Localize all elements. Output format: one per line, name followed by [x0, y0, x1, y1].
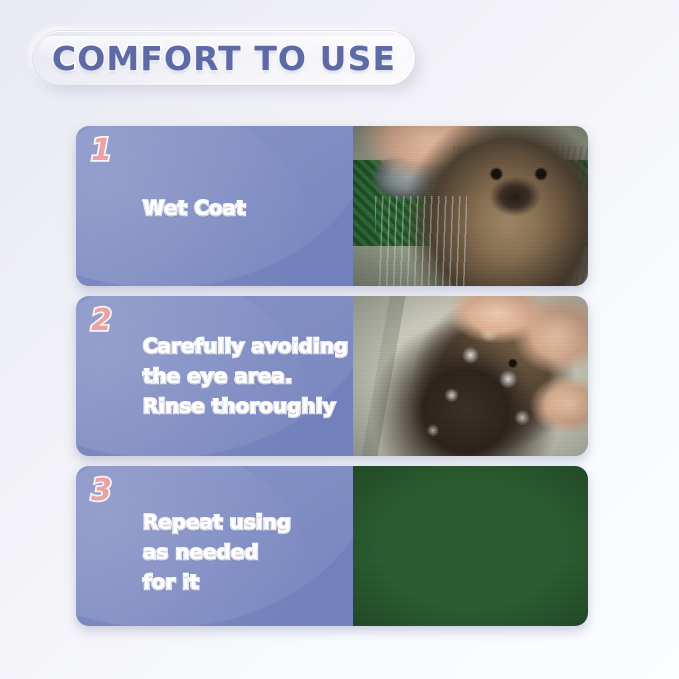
step-text-2: Carefully avoiding the eye area. Rinse t… — [143, 332, 393, 422]
step-text-line: Carefully avoiding — [143, 332, 393, 362]
step-card-3: 3 Repeat using as needed for it — [76, 466, 588, 626]
step-text-1: Wet Coat — [143, 194, 393, 224]
step-text-line: as needed — [143, 538, 393, 568]
step-text-3: Repeat using as needed for it — [143, 508, 393, 598]
title-banner: COMFORT TO USE — [33, 31, 415, 85]
step-card-1: 1 Wet Coat — [76, 126, 588, 286]
step-card-2: 2 Carefully avoiding the eye area. Rinse… — [76, 296, 588, 456]
step-text-line: the eye area. — [143, 362, 393, 392]
page-title: COMFORT TO USE — [52, 42, 396, 75]
step-text-line: Wet Coat — [143, 194, 393, 224]
step-text-line: Rinse thoroughly — [143, 392, 393, 422]
step-number-2: 2 — [91, 303, 112, 338]
step-number-3: 3 — [91, 473, 112, 508]
step-text-line: Repeat using — [143, 508, 393, 538]
step-number-1: 1 — [91, 133, 112, 168]
step-text-line: for it — [143, 568, 393, 598]
